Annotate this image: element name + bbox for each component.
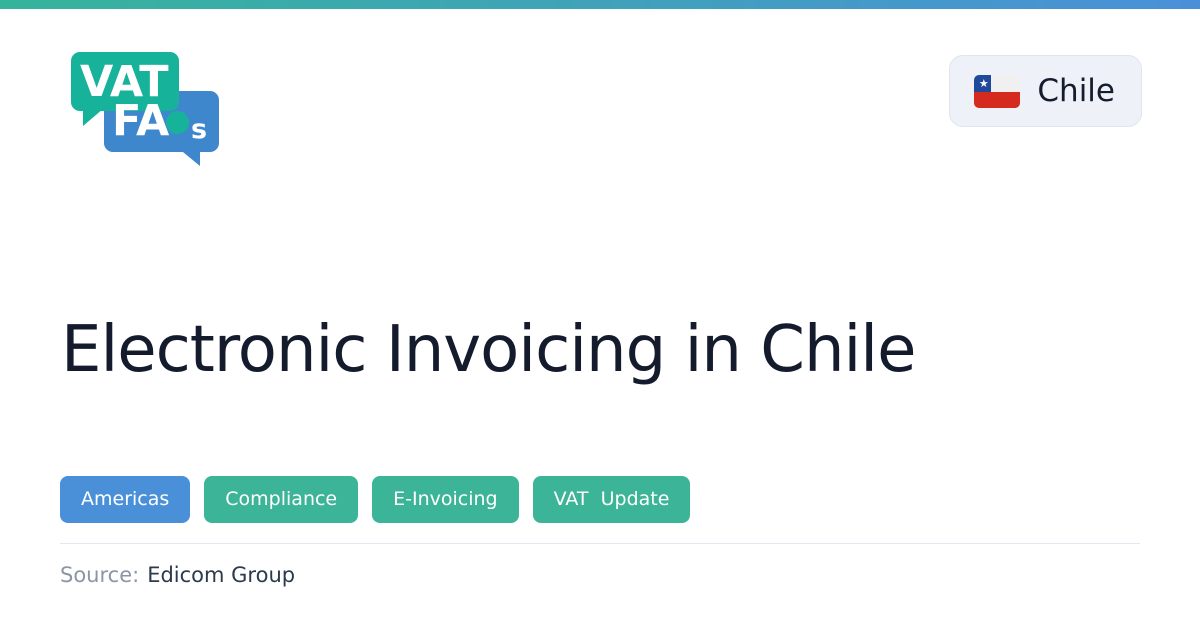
content-divider	[60, 543, 1140, 544]
logo-bubble-blue-tail	[178, 148, 200, 166]
source-label: Source:	[60, 562, 139, 589]
source-line: Source: Edicom Group	[60, 562, 295, 589]
page-title: Electronic Invoicing in Chile	[61, 315, 1141, 387]
country-name-label: Chile	[1037, 76, 1115, 107]
tag-pill[interactable]: VAT Update	[533, 476, 691, 523]
tag-pill[interactable]: E-Invoicing	[372, 476, 518, 523]
tag-pill[interactable]: Compliance	[204, 476, 358, 523]
source-value[interactable]: Edicom Group	[147, 562, 295, 589]
country-badge[interactable]: ★ Chile	[949, 55, 1142, 127]
logo-q-inner-circle-icon	[166, 111, 189, 134]
logo-text-faq: FA	[112, 100, 169, 143]
flag-chile-icon: ★	[974, 75, 1020, 108]
page-header: VAT FA s ★ Chile	[0, 9, 1200, 184]
tag-list: AmericasComplianceE-InvoicingVAT Update	[60, 476, 690, 523]
flag-star-icon: ★	[979, 78, 989, 89]
logo-text-s: s	[191, 116, 207, 143]
top-gradient-bar	[0, 0, 1200, 9]
brand-logo[interactable]: VAT FA s	[63, 42, 233, 167]
tag-pill[interactable]: Americas	[60, 476, 190, 523]
logo-bubble-teal-tail	[83, 109, 103, 126]
